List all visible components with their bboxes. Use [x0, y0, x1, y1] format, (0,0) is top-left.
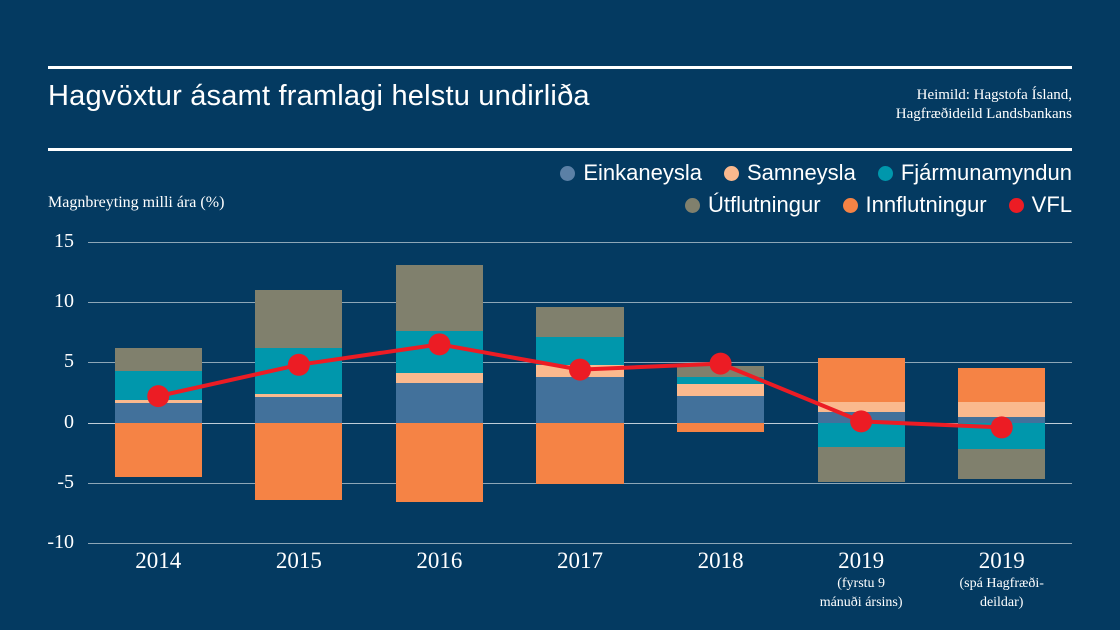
vfl-line-layer — [88, 242, 1072, 543]
y-tick-label: 5 — [64, 350, 74, 373]
x-axis-tick-label: 2015 — [229, 548, 370, 574]
vfl-data-point[interactable] — [288, 354, 310, 376]
legend-dot-icon — [724, 166, 739, 181]
x-axis-tick-label: 2014 — [88, 548, 229, 574]
gridline--10: -10 — [88, 543, 1072, 544]
x-label-year: 2016 — [369, 548, 510, 574]
vfl-data-point[interactable] — [569, 359, 591, 381]
x-axis-tick-label: 2019(fyrstu 9mánuði ársins) — [791, 548, 932, 612]
x-label-sub: deildar) — [931, 595, 1072, 612]
header-rule-top — [48, 66, 1072, 69]
legend-label: Samneysla — [747, 160, 856, 186]
page-title: Hagvöxtur ásamt framlagi helstu undirlið… — [48, 80, 590, 113]
legend-dot-icon — [1009, 198, 1024, 213]
x-label-year: 2019 — [791, 548, 932, 574]
chart-page: Hagvöxtur ásamt framlagi helstu undirlið… — [0, 0, 1120, 630]
vfl-data-point[interactable] — [428, 333, 450, 355]
y-tick-label: -10 — [47, 531, 74, 554]
x-label-sub: (fyrstu 9 — [791, 576, 932, 593]
y-tick-label: 10 — [54, 290, 74, 313]
chart-legend: EinkaneyslaSamneyslaFjármunamyndun Útflu… — [452, 160, 1072, 218]
source-line-2: Hagfræðideild Landsbankans — [896, 105, 1072, 124]
x-label-sub: mánuði ársins) — [791, 595, 932, 612]
source-line-1: Heimild: Hagstofa Ísland, — [896, 86, 1072, 105]
vfl-data-point[interactable] — [850, 410, 872, 432]
y-tick-label: 15 — [54, 230, 74, 253]
vfl-line — [158, 344, 1001, 427]
legend-item-fjármunamyndun[interactable]: Fjármunamyndun — [878, 160, 1072, 186]
x-axis-tick-label: 2018 — [650, 548, 791, 574]
vfl-data-point[interactable] — [991, 416, 1013, 438]
x-label-year: 2017 — [510, 548, 651, 574]
legend-dot-icon — [843, 198, 858, 213]
x-label-year: 2018 — [650, 548, 791, 574]
x-axis-tick-label: 2019(spá Hagfræði-deildar) — [931, 548, 1072, 612]
y-tick-label: -5 — [57, 471, 74, 494]
x-label-year: 2014 — [88, 548, 229, 574]
vfl-data-point[interactable] — [147, 385, 169, 407]
plot-area: 151050-5-10 — [88, 242, 1072, 543]
y-axis-title: Magnbreyting milli ára (%) — [48, 194, 224, 212]
legend-item-vfl[interactable]: VFL — [1009, 192, 1072, 218]
source-credit: Heimild: Hagstofa Ísland, Hagfræðideild … — [896, 86, 1072, 124]
legend-label: Útflutningur — [708, 192, 821, 218]
y-tick-label: 0 — [64, 411, 74, 434]
x-label-year: 2019 — [931, 548, 1072, 574]
legend-row-2: ÚtflutningurInnflutningurVFL — [452, 192, 1072, 218]
legend-label: VFL — [1032, 192, 1072, 218]
x-label-year: 2015 — [229, 548, 370, 574]
legend-item-innflutningur[interactable]: Innflutningur — [843, 192, 987, 218]
x-axis-tick-label: 2016 — [369, 548, 510, 574]
legend-label: Innflutningur — [866, 192, 987, 218]
legend-item-samneysla[interactable]: Samneysla — [724, 160, 856, 186]
x-axis-tick-label: 2017 — [510, 548, 651, 574]
legend-dot-icon — [685, 198, 700, 213]
x-axis-labels: 201420152016201720182019(fyrstu 9mánuði … — [88, 548, 1072, 628]
legend-row-1: EinkaneyslaSamneyslaFjármunamyndun — [452, 160, 1072, 186]
legend-item-útflutningur[interactable]: Útflutningur — [685, 192, 821, 218]
vfl-data-point[interactable] — [710, 353, 732, 375]
legend-item-einkaneysla[interactable]: Einkaneysla — [560, 160, 702, 186]
legend-label: Fjármunamyndun — [901, 160, 1072, 186]
legend-label: Einkaneysla — [583, 160, 702, 186]
legend-dot-icon — [560, 166, 575, 181]
x-label-sub: (spá Hagfræði- — [931, 576, 1072, 593]
header-rule-bottom — [48, 148, 1072, 151]
legend-dot-icon — [878, 166, 893, 181]
